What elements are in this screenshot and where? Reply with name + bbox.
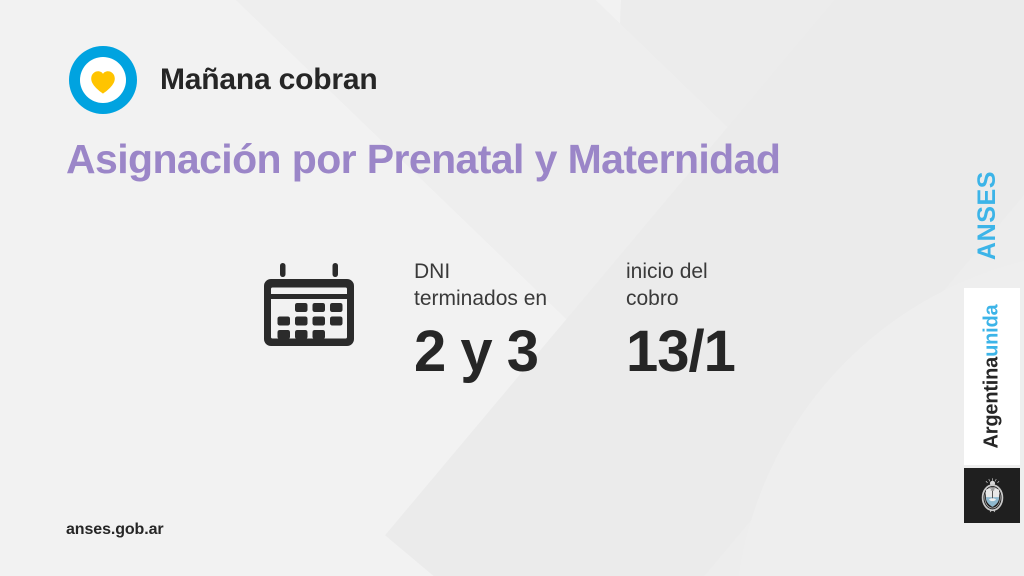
eyebrow-text: Mañana cobran xyxy=(160,63,377,97)
info-value-inicio-cobro: 13/1 xyxy=(626,323,826,381)
poster-header: Mañana cobran xyxy=(67,44,377,116)
rail-campaign-second: unida xyxy=(981,305,1003,357)
calendar-icon xyxy=(262,258,356,352)
rail-campaign-first: Argentina xyxy=(981,357,1003,449)
rail-campaign-argentina-unida: Argentinaunida xyxy=(964,288,1020,465)
poster-canvas: Mañana cobran Asignación por Prenatal y … xyxy=(0,0,1024,576)
rail-campaign-label: Argentinaunida xyxy=(981,305,1004,449)
anses-heart-logo-icon xyxy=(67,44,139,116)
info-label-inicio-cobro: inicio del cobro xyxy=(626,258,826,312)
brand-rail: ANSES Argentinaunida xyxy=(960,0,1024,576)
info-column-inicio-cobro: inicio del cobro 13/1 xyxy=(626,258,826,381)
rail-organism-label: ANSES xyxy=(974,170,1003,259)
info-column-dni: DNI terminados en 2 y 3 xyxy=(414,258,626,381)
payment-info-strip: DNI terminados en 2 y 3 inicio del cobro… xyxy=(262,258,826,381)
rail-organism-anses: ANSES xyxy=(960,150,1016,280)
argentina-coat-of-arms-icon xyxy=(964,468,1020,523)
site-url[interactable]: anses.gob.ar xyxy=(66,521,164,539)
page-title: Asignación por Prenatal y Maternidad xyxy=(66,136,780,183)
info-label-dni: DNI terminados en xyxy=(414,258,626,312)
info-value-dni: 2 y 3 xyxy=(414,323,626,381)
